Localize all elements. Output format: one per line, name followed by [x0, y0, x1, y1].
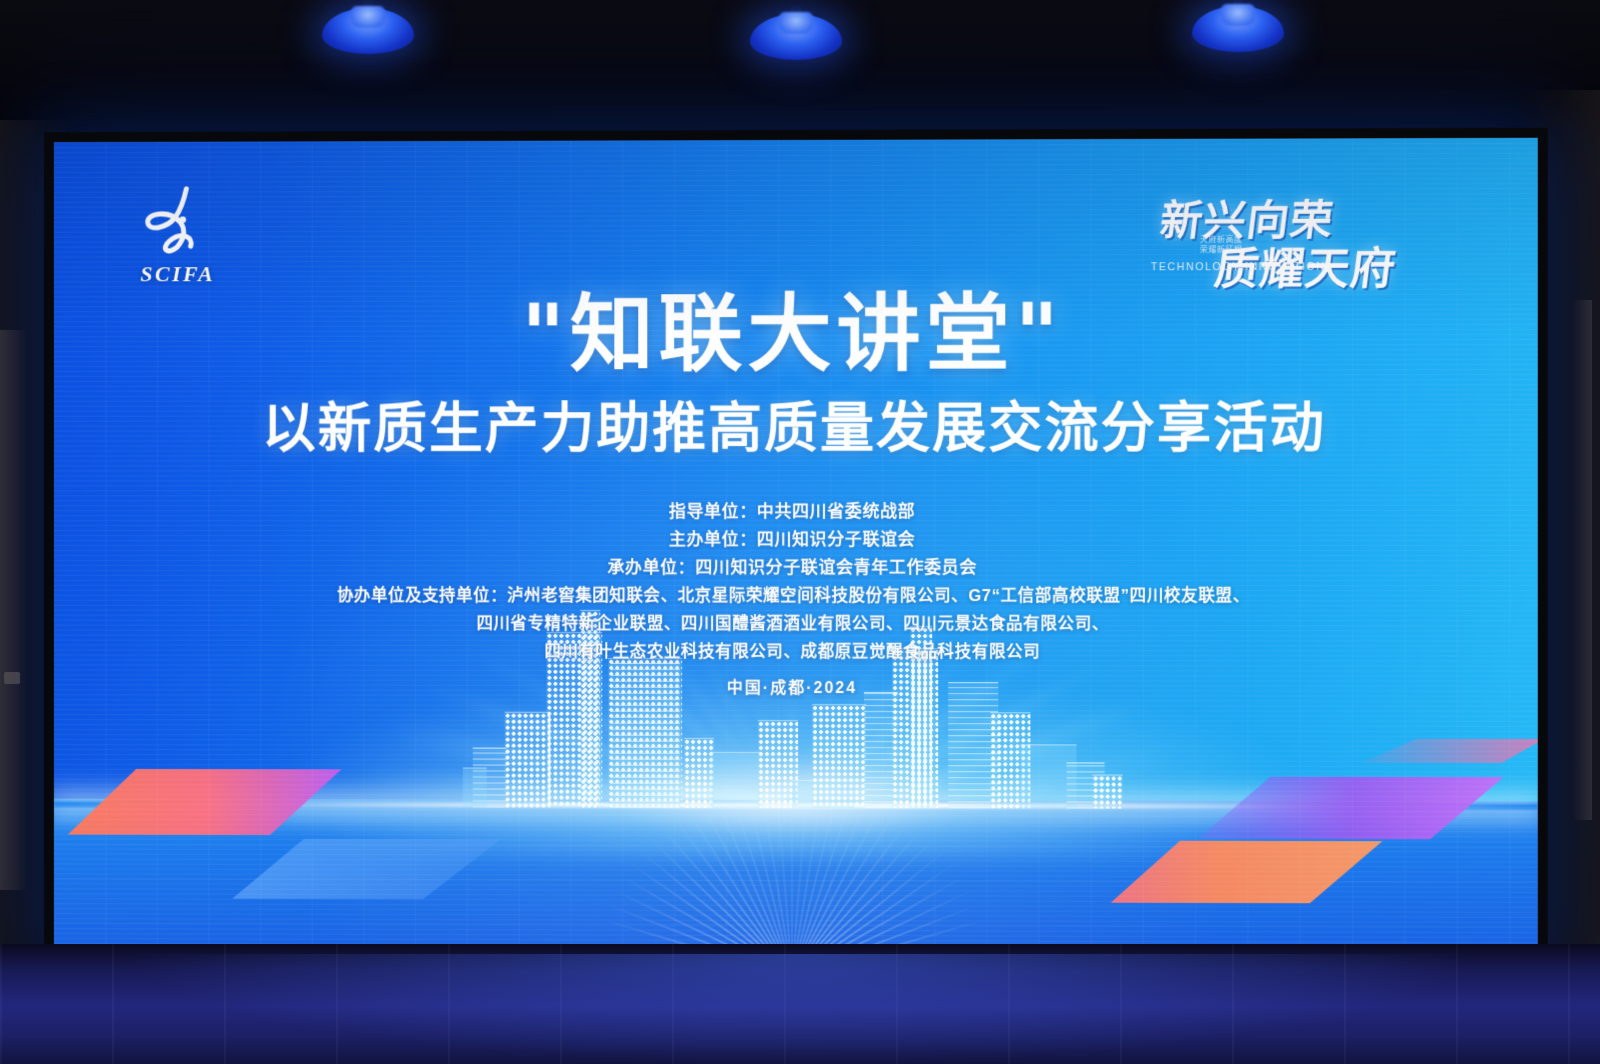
right-door-frame [1572, 300, 1592, 820]
banner-title: "知联大讲堂" [54, 291, 1538, 377]
org-line: 承办单位：四川知识分子联谊会青年工作委员会 [54, 554, 1538, 582]
org-line: 指导单位：中共四川省委统战部 [54, 498, 1538, 526]
scifa-logo: SCIFA [118, 183, 237, 287]
campaign-tagline-en: TECHNOLOGY INNOVATION [1151, 261, 1302, 273]
stage-scene: SCIFA 新兴向荣 天府新高度 荣耀新征程 质耀天府 TECHNOLOGY I… [0, 0, 1600, 1064]
banner-subtitle: 以新质生产力助推高质量发展交流分享活动 [54, 401, 1538, 456]
banner-content: SCIFA 新兴向荣 天府新高度 荣耀新征程 质耀天府 TECHNOLOGY I… [54, 138, 1538, 978]
left-door-frame [0, 330, 26, 890]
campaign-logo: 新兴向荣 天府新高度 荣耀新征程 质耀天府 TECHNOLOGY INNOVAT… [1145, 186, 1477, 297]
lamp-bulb [1221, 4, 1255, 26]
floor-reflection-glow [120, 954, 1480, 1064]
lamp-bulb [351, 6, 385, 28]
org-line: 主办单位：四川知识分子联谊会 [54, 526, 1538, 554]
lamp-bulb [779, 12, 813, 34]
led-screen-content: SCIFA 新兴向荣 天府新高度 荣耀新征程 质耀天府 TECHNOLOGY I… [54, 138, 1538, 978]
ceiling-light-1 [322, 0, 414, 56]
door-handle [4, 672, 20, 684]
led-video-wall: SCIFA 新兴向荣 天府新高度 荣耀新征程 质耀天府 TECHNOLOGY I… [54, 138, 1538, 978]
org-line: 协办单位及支持单位：泸州老窖集团知联会、北京星际荣耀空间科技股份有限公司、G7“… [54, 582, 1538, 610]
organization-list: 指导单位：中共四川省委统战部 主办单位：四川知识分子联谊会 承办单位：四川知识分… [54, 498, 1538, 667]
scifa-swoosh-icon [142, 184, 213, 258]
scifa-logo-text: SCIFA [118, 261, 237, 287]
org-line: 四川有叶生态农业科技有限公司、成都原豆觉醒食品科技有限公司 [54, 638, 1538, 667]
org-line: 四川省专精特新企业联盟、四川国醴酱酒酒业有限公司、四川元景达食品有限公司、 [54, 610, 1538, 639]
place-and-date: 中国·成都·2024 [54, 673, 1538, 698]
ceiling-light-3 [1192, 0, 1284, 54]
ceiling-light-2 [750, 2, 842, 62]
